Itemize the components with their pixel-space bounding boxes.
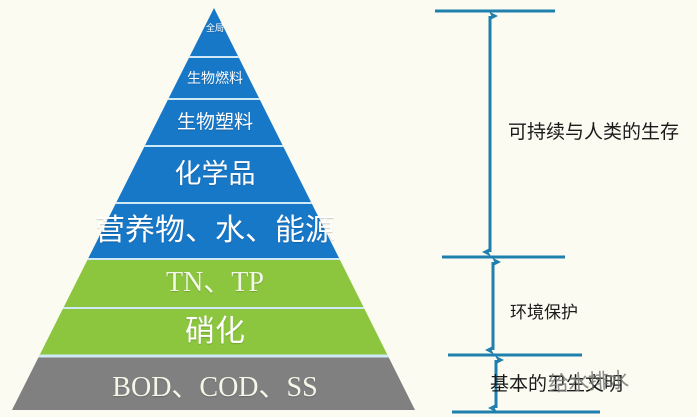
pyramid-chart: 全局 生物燃料 生物塑料 化学品 营养物、水、能源 TN、TP 硝化 BOD、C… [0, 0, 430, 417]
bracket-label-sanitation: 基本的卫生文明 [490, 369, 623, 396]
pyramid-band-4 [0, 146, 430, 203]
pyramid-bands [0, 0, 430, 417]
pyramid-band-7 [0, 308, 430, 356]
diagram-canvas: 全局 生物燃料 生物塑料 化学品 营养物、水、能源 TN、TP 硝化 BOD、C… [0, 0, 697, 417]
pyramid-shape [0, 0, 430, 417]
pyramid-band-5 [0, 203, 430, 259]
bracket-stroke-group [435, 11, 600, 412]
bracket-lines [430, 0, 697, 417]
pyramid-band-8 [0, 356, 430, 417]
bracket-annotations: 可持续与人类的生存 环境保护 基本的卫生文明 [430, 0, 697, 417]
pyramid-band-6 [0, 259, 430, 308]
pyramid-band-3 [0, 99, 430, 146]
pyramid-band-1 [0, 0, 430, 57]
pyramid-band-2 [0, 57, 430, 99]
bracket-label-sustainability: 可持续与人类的生存 [508, 117, 679, 144]
bracket-label-environment: 环境保护 [510, 298, 578, 323]
